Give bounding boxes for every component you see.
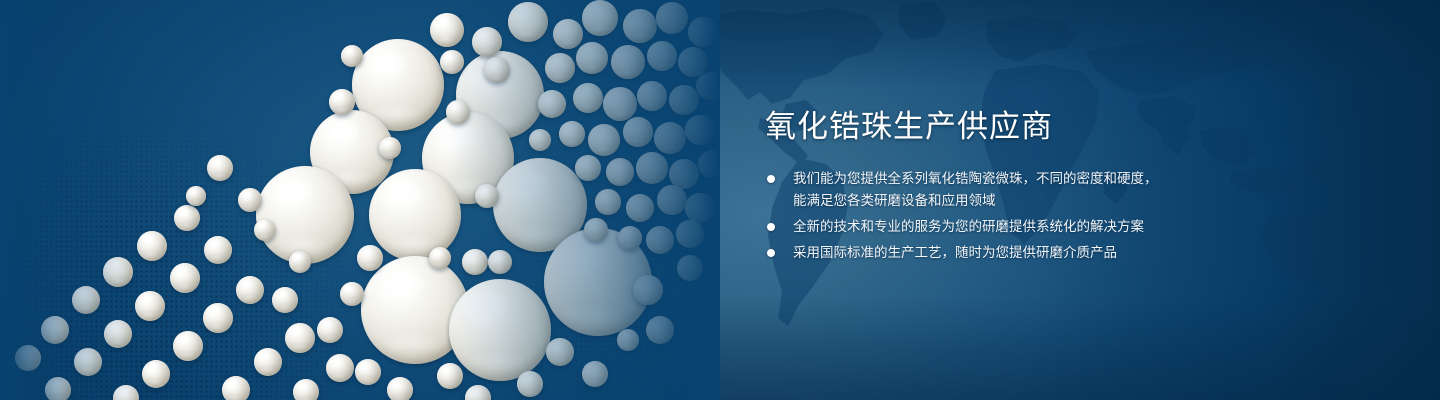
list-item-line1: 我们能为您提供全系列氧化锆陶瓷微珠，不同的密度和硬度， <box>793 171 1158 186</box>
bullet-dot-icon <box>767 249 775 257</box>
list-item-line1: 全新的技术和专业的服务为您的研磨提供系统化的解决方案 <box>793 219 1144 234</box>
list-item-line2: 能满足您各类研磨设备和应用领域 <box>793 190 1235 212</box>
list-item: 我们能为您提供全系列氧化锆陶瓷微珠，不同的密度和硬度， 能满足您各类研磨设备和应… <box>765 168 1235 212</box>
list-item-line1: 采用国际标准的生产工艺，随时为您提供研磨介质产品 <box>793 245 1117 260</box>
hero-banner: 氧化锆珠生产供应商 我们能为您提供全系列氧化锆陶瓷微珠，不同的密度和硬度， 能满… <box>0 0 1440 400</box>
page-title: 氧化锆珠生产供应商 <box>765 108 1235 146</box>
bullet-dot-icon <box>767 175 775 183</box>
zirconia-beads-photo <box>0 0 720 400</box>
list-item: 全新的技术和专业的服务为您的研磨提供系统化的解决方案 <box>765 216 1235 238</box>
list-item: 采用国际标准的生产工艺，随时为您提供研磨介质产品 <box>765 242 1235 264</box>
photo-left-fade <box>0 0 720 400</box>
banner-content: 氧化锆珠生产供应商 我们能为您提供全系列氧化锆陶瓷微珠，不同的密度和硬度， 能满… <box>765 108 1235 268</box>
feature-list: 我们能为您提供全系列氧化锆陶瓷微珠，不同的密度和硬度， 能满足您各类研磨设备和应… <box>765 168 1235 264</box>
bullet-dot-icon <box>767 223 775 231</box>
